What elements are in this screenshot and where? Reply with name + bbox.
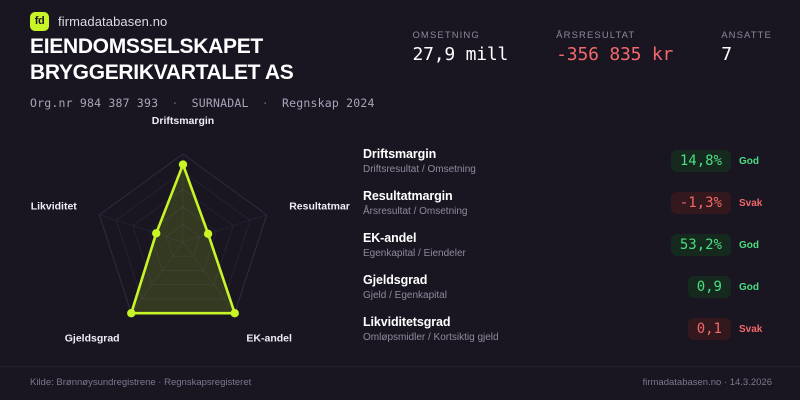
metric-value: -1,3% [671,192,731,214]
kpi-group: OMSETNING 27,9 mill ÅRSRESULTAT -356 835… [412,30,772,65]
metric-formula: Egenkapital / Eiendeler [363,247,671,260]
status-badge: Svak [739,324,775,335]
status-badge: God [739,240,775,251]
footer-source: Kilde: Brønnøysundregistrene · Regnskaps… [30,377,251,388]
kpi-ansatte: ANSATTE 7 [721,30,772,65]
radar-point-likviditet [152,229,160,237]
kpi-omsetning: OMSETNING 27,9 mill [412,30,508,65]
status-badge: God [739,156,775,167]
brand[interactable]: fd firmadatabasen.no [30,12,167,31]
kpi-label: ÅRSRESULTAT [556,30,673,41]
metrics-list: Driftsmargin Driftsresultat / Omsetning … [363,140,775,350]
kpi-value: 27,9 mill [412,44,508,65]
radar-point-driftsmargin [179,160,187,168]
metric-name: Driftsmargin [363,147,671,162]
kpi-value: 7 [721,44,772,65]
metric-value: 0,1 [688,318,731,340]
radar-point-gjeldsgrad [127,309,135,317]
radar-chart: DriftsmarginResultatmarginEK-andelGjelds… [0,100,350,360]
metric-row-gjeldsgrad[interactable]: Gjeldsgrad Gjeld / Egenkapital 0,9 God [363,266,775,308]
metric-name: Likviditetsgrad [363,315,688,330]
radar-axis-label-gjeldsgrad: Gjeldsgrad [65,333,120,345]
footer: Kilde: Brønnøysundregistrene · Regnskaps… [0,366,800,400]
metric-name: Gjeldsgrad [363,273,688,288]
metric-name: EK-andel [363,231,671,246]
status-badge: Svak [739,198,775,209]
metric-text: Resultatmargin Årsresultat / Omsetning [363,189,671,218]
kpi-arsresultat: ÅRSRESULTAT -356 835 kr [556,30,673,65]
firmadatabasen-logo-icon: fd [30,12,49,31]
radar-axis-label-likviditet: Likviditet [31,201,78,213]
metric-row-resultatmargin[interactable]: Resultatmargin Årsresultat / Omsetning -… [363,182,775,224]
metric-value: 14,8% [671,150,731,172]
kpi-label: ANSATTE [721,30,772,41]
radar-chart-svg: DriftsmarginResultatmarginEK-andelGjelds… [0,100,350,360]
metric-row-ek-andel[interactable]: EK-andel Egenkapital / Eiendeler 53,2% G… [363,224,775,266]
radar-point-ek-andel [231,309,239,317]
report-card: fd firmadatabasen.no EIENDOMSSELSKAPET B… [0,0,800,400]
metric-text: Likviditetsgrad Omløpsmidler / Kortsikti… [363,315,688,344]
radar-axis-label-resultatmargin: Resultatmargin [289,201,350,213]
metric-text: Driftsmargin Driftsresultat / Omsetning [363,147,671,176]
radar-axis-label-ek-andel: EK-andel [246,333,292,345]
footer-site-date: firmadatabasen.no · 14.3.2026 [643,377,772,388]
metric-value: 53,2% [671,234,731,256]
brand-name: firmadatabasen.no [58,14,167,29]
radar-series-area [131,165,234,314]
radar-point-resultatmargin [204,230,212,238]
metric-formula: Gjeld / Egenkapital [363,289,688,302]
metric-row-likviditetsgrad[interactable]: Likviditetsgrad Omløpsmidler / Kortsikti… [363,308,775,350]
metric-value: 0,9 [688,276,731,298]
kpi-label: OMSETNING [412,30,508,41]
metric-text: EK-andel Egenkapital / Eiendeler [363,231,671,260]
status-badge: God [739,282,775,293]
metric-formula: Årsresultat / Omsetning [363,205,671,218]
metric-formula: Driftsresultat / Omsetning [363,163,671,176]
metric-name: Resultatmargin [363,189,671,204]
metric-text: Gjeldsgrad Gjeld / Egenkapital [363,273,688,302]
metric-row-driftsmargin[interactable]: Driftsmargin Driftsresultat / Omsetning … [363,140,775,182]
radar-axis-label-driftsmargin: Driftsmargin [152,115,214,127]
metric-formula: Omløpsmidler / Kortsiktig gjeld [363,331,688,344]
kpi-value: -356 835 kr [556,44,673,65]
